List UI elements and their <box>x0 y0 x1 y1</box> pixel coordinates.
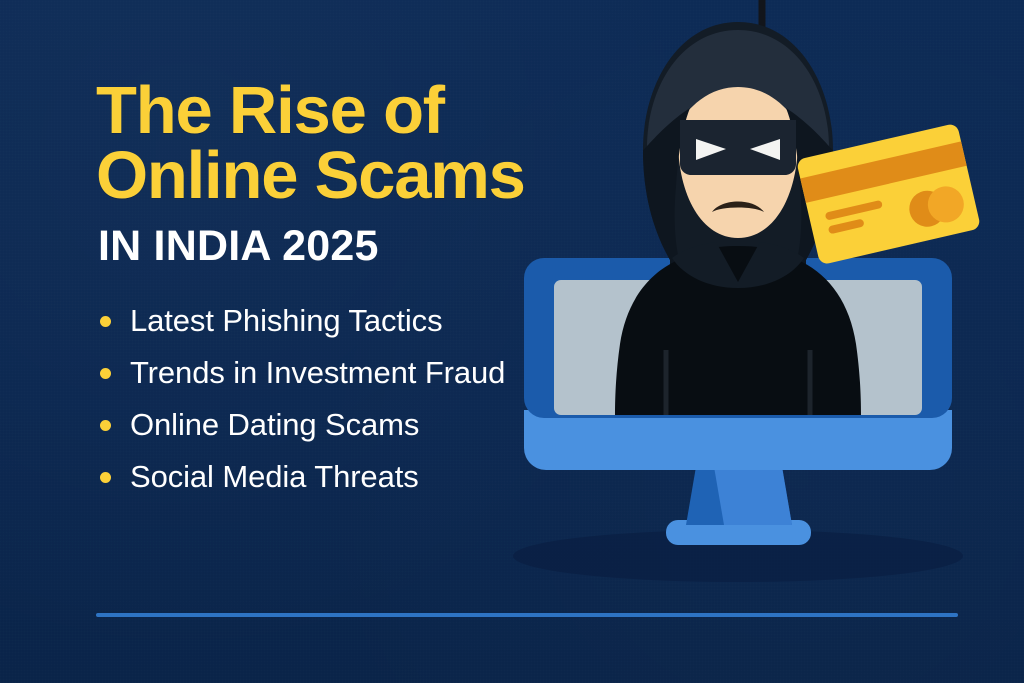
list-item-label: Latest Phishing Tactics <box>130 303 442 338</box>
headline-line-1: The Rise of <box>96 78 636 143</box>
bullet-dot-icon <box>100 316 111 327</box>
subtitle: IN INDIA 2025 <box>98 222 636 271</box>
list-item-label: Online Dating Scams <box>130 407 419 442</box>
bullet-dot-icon <box>100 420 111 431</box>
bullet-dot-icon <box>100 368 111 379</box>
list-item-label: Social Media Threats <box>130 459 419 494</box>
bullet-dot-icon <box>100 472 111 483</box>
list-item: Latest Phishing Tactics <box>96 305 636 336</box>
headline-line-2: Online Scams <box>96 143 636 208</box>
list-item: Social Media Threats <box>96 461 636 492</box>
page-title: The Rise of Online Scams <box>96 78 636 208</box>
list-item-label: Trends in Investment Fraud <box>130 355 505 390</box>
poster-canvas: The Rise of Online Scams IN INDIA 2025 L… <box>0 0 1024 683</box>
topic-list: Latest Phishing Tactics Trends in Invest… <box>96 305 636 492</box>
text-column: The Rise of Online Scams IN INDIA 2025 L… <box>96 78 636 513</box>
footer-divider <box>96 613 958 617</box>
list-item: Trends in Investment Fraud <box>96 357 636 388</box>
list-item: Online Dating Scams <box>96 409 636 440</box>
